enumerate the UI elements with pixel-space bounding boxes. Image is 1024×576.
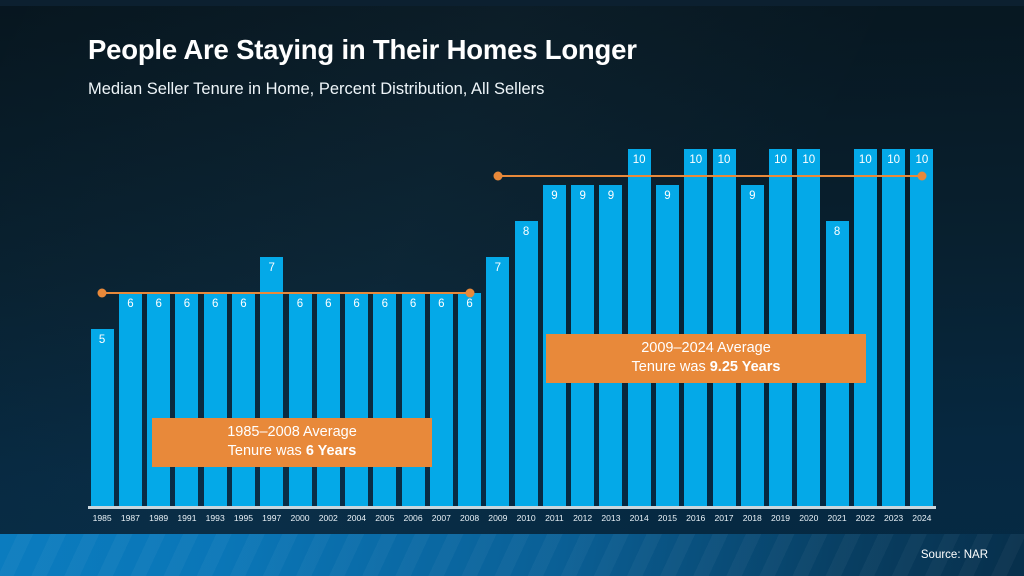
bar-1985[interactable]: 5 xyxy=(91,130,114,508)
x-tick-2006: 2006 xyxy=(399,514,427,523)
header: People Are Staying in Their Homes Longer… xyxy=(88,34,637,99)
annotation-line-2-prefix: Tenure was xyxy=(228,443,306,459)
bar-value-label: 7 xyxy=(260,263,283,275)
page-title: People Are Staying in Their Homes Longer xyxy=(88,34,637,66)
x-tick-2004: 2004 xyxy=(343,514,371,523)
footer-stripe-texture xyxy=(0,534,1024,576)
x-tick-2015: 2015 xyxy=(653,514,681,523)
top-edge-strip xyxy=(0,0,1024,6)
bar-2015[interactable]: 9 xyxy=(656,130,679,508)
bar-rect: 6 xyxy=(458,293,481,508)
bar-rect: 10 xyxy=(769,149,792,508)
bar-value-label: 9 xyxy=(571,191,594,203)
x-tick-2009: 2009 xyxy=(484,514,512,523)
x-tick-1991: 1991 xyxy=(173,514,201,523)
annotation-box-avg-1985-2008[interactable]: 1985–2008 AverageTenure was 6 Years xyxy=(152,418,432,467)
bar-value-label: 10 xyxy=(882,155,905,167)
bar-rect: 6 xyxy=(232,293,255,508)
x-tick-2020: 2020 xyxy=(795,514,823,523)
bar-rect: 7 xyxy=(260,257,283,508)
annotation-line-1: 2009–2024 Average xyxy=(641,339,771,358)
bar-rect: 6 xyxy=(289,293,312,508)
bar-2021[interactable]: 8 xyxy=(826,130,849,508)
bar-rect: 10 xyxy=(684,149,707,508)
average-line-avg-1985-2008 xyxy=(102,292,469,294)
bar-value-label: 6 xyxy=(147,299,170,311)
bar-2023[interactable]: 10 xyxy=(882,130,905,508)
x-tick-2005: 2005 xyxy=(371,514,399,523)
bar-value-label: 6 xyxy=(119,299,142,311)
bar-value-label: 10 xyxy=(797,155,820,167)
bar-2009[interactable]: 7 xyxy=(486,130,509,508)
annotation-box-avg-2009-2024[interactable]: 2009–2024 AverageTenure was 9.25 Years xyxy=(546,334,866,383)
bar-rect: 5 xyxy=(91,329,114,509)
x-tick-2018: 2018 xyxy=(738,514,766,523)
axis-baseline xyxy=(88,506,936,509)
x-tick-2017: 2017 xyxy=(710,514,738,523)
bar-value-label: 6 xyxy=(430,299,453,311)
bar-value-label: 6 xyxy=(317,299,340,311)
bar-rect: 6 xyxy=(345,293,368,508)
bar-rect: 6 xyxy=(175,293,198,508)
bar-value-label: 10 xyxy=(628,155,651,167)
bar-value-label: 10 xyxy=(854,155,877,167)
x-tick-2023: 2023 xyxy=(880,514,908,523)
bar-rect: 6 xyxy=(430,293,453,508)
bar-value-label: 6 xyxy=(345,299,368,311)
bar-rect: 6 xyxy=(119,293,142,508)
x-tick-2011: 2011 xyxy=(540,514,568,523)
source-note: Source: NAR xyxy=(921,549,988,561)
average-line-endpoint-start xyxy=(493,171,502,180)
annotation-line-1: 1985–2008 Average xyxy=(227,423,357,442)
bar-value-label: 9 xyxy=(543,191,566,203)
x-tick-1985: 1985 xyxy=(88,514,116,523)
x-tick-2013: 2013 xyxy=(597,514,625,523)
x-tick-2014: 2014 xyxy=(625,514,653,523)
bar-rect: 6 xyxy=(317,293,340,508)
bar-2014[interactable]: 10 xyxy=(628,130,651,508)
bar-rect: 10 xyxy=(797,149,820,508)
annotation-line-2-value: 9.25 Years xyxy=(710,359,781,375)
bar-rect: 10 xyxy=(854,149,877,508)
bar-rect: 6 xyxy=(147,293,170,508)
x-tick-2007: 2007 xyxy=(427,514,455,523)
bar-value-label: 9 xyxy=(741,191,764,203)
annotation-line-2-prefix: Tenure was xyxy=(632,359,710,375)
bar-rect: 6 xyxy=(402,293,425,508)
bar-2013[interactable]: 9 xyxy=(599,130,622,508)
bar-rect: 10 xyxy=(910,149,933,508)
bar-2019[interactable]: 10 xyxy=(769,130,792,508)
bar-2018[interactable]: 9 xyxy=(741,130,764,508)
bar-value-label: 10 xyxy=(684,155,707,167)
bar-value-label: 9 xyxy=(599,191,622,203)
bar-rect: 10 xyxy=(713,149,736,508)
bar-2011[interactable]: 9 xyxy=(543,130,566,508)
footer-bar: Source: NAR xyxy=(0,534,1024,576)
average-line-avg-2009-2024 xyxy=(498,175,922,177)
bar-rect: 8 xyxy=(515,221,538,508)
x-tick-2000: 2000 xyxy=(286,514,314,523)
annotation-line-2-value: 6 Years xyxy=(306,443,357,459)
bar-2016[interactable]: 10 xyxy=(684,130,707,508)
bar-rect: 10 xyxy=(882,149,905,508)
x-tick-1997: 1997 xyxy=(258,514,286,523)
bar-rect: 6 xyxy=(373,293,396,508)
bar-rect: 10 xyxy=(628,149,651,508)
bar-value-label: 6 xyxy=(402,299,425,311)
x-tick-2022: 2022 xyxy=(851,514,879,523)
x-tick-2002: 2002 xyxy=(314,514,342,523)
x-tick-2024: 2024 xyxy=(908,514,936,523)
bar-2024[interactable]: 10 xyxy=(910,130,933,508)
bar-value-label: 6 xyxy=(204,299,227,311)
x-tick-2019: 2019 xyxy=(767,514,795,523)
x-tick-2016: 2016 xyxy=(682,514,710,523)
page-subtitle: Median Seller Tenure in Home, Percent Di… xyxy=(88,80,637,99)
annotation-line-2: Tenure was 9.25 Years xyxy=(632,358,781,377)
bar-value-label: 10 xyxy=(910,155,933,167)
bar-2007[interactable]: 6 xyxy=(430,130,453,508)
average-line-endpoint-start xyxy=(98,288,107,297)
bar-value-label: 10 xyxy=(713,155,736,167)
bar-value-label: 8 xyxy=(826,227,849,239)
bar-2010[interactable]: 8 xyxy=(515,130,538,508)
bar-value-label: 7 xyxy=(486,263,509,275)
average-line-endpoint-end xyxy=(917,171,926,180)
bar-2017[interactable]: 10 xyxy=(713,130,736,508)
x-tick-2021: 2021 xyxy=(823,514,851,523)
x-tick-1989: 1989 xyxy=(145,514,173,523)
bar-1987[interactable]: 6 xyxy=(119,130,142,508)
x-tick-1995: 1995 xyxy=(229,514,257,523)
annotation-line-2: Tenure was 6 Years xyxy=(228,442,357,461)
bar-value-label: 5 xyxy=(91,335,114,347)
bar-2022[interactable]: 10 xyxy=(854,130,877,508)
x-tick-1993: 1993 xyxy=(201,514,229,523)
bar-2020[interactable]: 10 xyxy=(797,130,820,508)
bar-value-label: 6 xyxy=(232,299,255,311)
bar-rect: 6 xyxy=(204,293,227,508)
bar-value-label: 6 xyxy=(458,299,481,311)
x-axis-labels: 1985198719891991199319951997200020022004… xyxy=(88,512,936,528)
bar-value-label: 8 xyxy=(515,227,538,239)
average-line-endpoint-end xyxy=(465,288,474,297)
x-tick-1987: 1987 xyxy=(116,514,144,523)
bar-value-label: 6 xyxy=(289,299,312,311)
bar-value-label: 6 xyxy=(175,299,198,311)
bar-value-label: 10 xyxy=(769,155,792,167)
bar-rect: 7 xyxy=(486,257,509,508)
bar-value-label: 9 xyxy=(656,191,679,203)
slide-canvas: People Are Staying in Their Homes Longer… xyxy=(0,0,1024,576)
bar-value-label: 6 xyxy=(373,299,396,311)
bar-2012[interactable]: 9 xyxy=(571,130,594,508)
bar-2008[interactable]: 6 xyxy=(458,130,481,508)
x-tick-2010: 2010 xyxy=(512,514,540,523)
x-tick-2012: 2012 xyxy=(569,514,597,523)
x-tick-2008: 2008 xyxy=(456,514,484,523)
